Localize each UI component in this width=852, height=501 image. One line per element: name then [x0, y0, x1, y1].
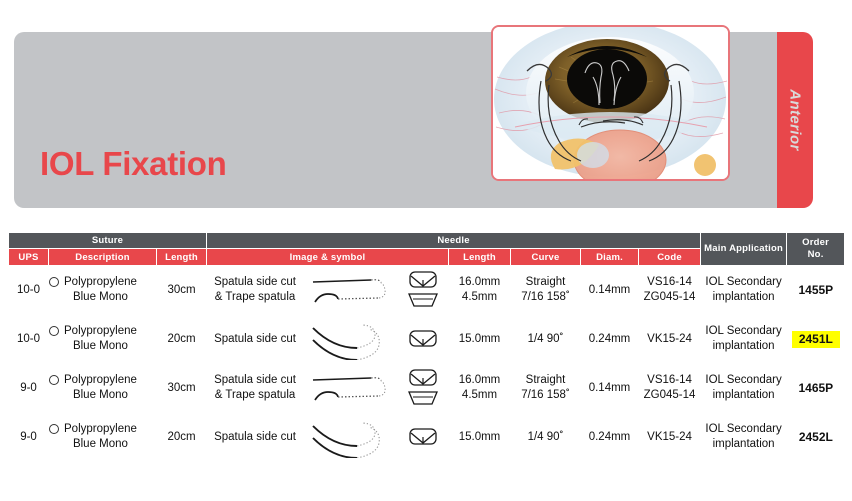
cell-suture-length: 30cm — [157, 266, 207, 315]
cell-suture-length: 20cm — [157, 315, 207, 364]
description-line1: Polypropylene — [64, 276, 137, 288]
code-line1: VS16-14 — [647, 374, 692, 386]
cell-code: VK15-24 — [639, 413, 701, 462]
cell-needle-length: 15.0mm — [449, 315, 511, 364]
cell-suture-length: 30cm — [157, 364, 207, 413]
application-line2: implantation — [713, 340, 775, 352]
table-row[interactable]: 9-0 Polypropylene Blue Mono 20cm Spatu — [9, 413, 845, 462]
cell-needle-symbol — [397, 315, 449, 364]
anterior-eye-illustration — [491, 25, 730, 181]
header-group-suture: Suture — [9, 233, 207, 249]
image-text-line1: Spatula side cut — [214, 276, 296, 288]
cell-code: VS16-14 ZG045-14 — [639, 266, 701, 315]
cell-needle-symbol — [397, 364, 449, 413]
symbol-side-cut-and-trape-spatula-icon — [406, 368, 440, 408]
eye-illustration-svg — [493, 27, 728, 179]
curve-line1: Straight — [526, 276, 566, 288]
header-main-application: Main Application — [701, 233, 787, 266]
cell-diameter: 0.14mm — [581, 266, 639, 315]
cell-needle-length: 16.0mm 4.5mm — [449, 364, 511, 413]
header-order-no-line1: Order — [787, 237, 844, 249]
description-line1: Polypropylene — [64, 374, 137, 386]
application-line1: IOL Secondary — [705, 374, 781, 386]
cell-main-application: IOL Secondary implantation — [701, 315, 787, 364]
header-image-symbol: Image & symbol — [207, 249, 449, 266]
needle-length-line2: 4.5mm — [462, 291, 497, 303]
symbol-side-cut-spatula-icon — [406, 328, 440, 350]
image-text-line1: Spatula side cut — [214, 374, 296, 386]
table-header-group-row: Suture Needle Main Application Order No. — [9, 233, 845, 249]
cell-code: VK15-24 — [639, 315, 701, 364]
description-line2: Blue Mono — [73, 389, 128, 401]
application-line2: implantation — [713, 291, 775, 303]
monofilament-circle-icon — [49, 424, 59, 434]
code-line2: ZG045-14 — [644, 291, 696, 303]
header-group-needle: Needle — [207, 233, 701, 249]
cell-ups: 10-0 — [9, 315, 49, 364]
cell-needle-symbol — [397, 266, 449, 315]
cell-curve: Straight 7/16 158˚ — [511, 364, 581, 413]
needle-illustration-double-curved — [309, 318, 396, 360]
cell-description: Polypropylene Blue Mono — [49, 364, 157, 413]
code-line2: ZG045-14 — [644, 389, 696, 401]
cell-diameter: 0.14mm — [581, 364, 639, 413]
anterior-section-tab[interactable]: Anterior — [777, 32, 813, 208]
monofilament-circle-icon — [49, 277, 59, 287]
table-body: 10-0 Polypropylene Blue Mono 30cm Spat — [9, 266, 845, 462]
table-row[interactable]: 10-0 Polypropylene Blue Mono 30cm Spat — [9, 266, 845, 315]
cell-main-application: IOL Secondary implantation — [701, 413, 787, 462]
curve-line2: 7/16 158˚ — [521, 389, 570, 401]
header-ups: UPS — [9, 249, 49, 266]
image-text-line2: & Trape spatula — [215, 291, 296, 303]
cell-order-no[interactable]: 1465P — [787, 364, 845, 413]
cell-curve: 1/4 90˚ — [511, 413, 581, 462]
cell-ups: 9-0 — [9, 413, 49, 462]
needle-illustration-double-curved — [309, 416, 396, 458]
cell-description: Polypropylene Blue Mono — [49, 413, 157, 462]
cell-suture-length: 20cm — [157, 413, 207, 462]
cell-order-no[interactable]: 2451L — [787, 315, 845, 364]
description-line1: Polypropylene — [64, 423, 137, 435]
cell-order-no[interactable]: 1455P — [787, 266, 845, 315]
anterior-section-tab-label: Anterior — [787, 89, 804, 151]
cell-image-text: Spatula side cut & Trape spatula — [207, 266, 397, 315]
code-line1: VS16-14 — [647, 276, 692, 288]
curve-line2: 7/16 158˚ — [521, 291, 570, 303]
application-line1: IOL Secondary — [705, 325, 781, 337]
order-no-value: 1465P — [798, 381, 833, 395]
symbol-side-cut-spatula-icon — [406, 426, 440, 448]
product-specification-table: Suture Needle Main Application Order No.… — [8, 232, 845, 462]
needle-illustration-straight-and-curved — [309, 269, 396, 311]
symbol-side-cut-and-trape-spatula-icon — [406, 270, 440, 310]
needle-art-svg — [309, 367, 393, 409]
cell-ups: 10-0 — [9, 266, 49, 315]
table-row[interactable]: 9-0 Polypropylene Blue Mono 30cm Spatu — [9, 364, 845, 413]
needle-art-svg — [309, 318, 393, 360]
header-suture-length: Length — [157, 249, 207, 266]
header-needle-length: Length — [449, 249, 511, 266]
cell-code: VS16-14 ZG045-14 — [639, 364, 701, 413]
header-order-no-line2: No. — [787, 249, 844, 261]
table-row[interactable]: 10-0 Polypropylene Blue Mono 20cm Spat — [9, 315, 845, 364]
description-line2: Blue Mono — [73, 291, 128, 303]
header-curve: Curve — [511, 249, 581, 266]
needle-illustration-straight-and-curved — [309, 367, 396, 409]
monofilament-circle-icon — [49, 375, 59, 385]
cell-ups: 9-0 — [9, 364, 49, 413]
application-line1: IOL Secondary — [705, 276, 781, 288]
cell-description: Polypropylene Blue Mono — [49, 266, 157, 315]
application-line2: implantation — [713, 438, 775, 450]
application-line1: IOL Secondary — [705, 423, 781, 435]
description-line2: Blue Mono — [73, 340, 128, 352]
cell-image-text: Spatula side cut & Trape spatula — [207, 364, 397, 413]
header-order-no: Order No. — [787, 233, 845, 266]
product-table-container: Suture Needle Main Application Order No.… — [8, 232, 844, 462]
description-line2: Blue Mono — [73, 438, 128, 450]
cell-diameter: 0.24mm — [581, 315, 639, 364]
cell-needle-length: 15.0mm — [449, 413, 511, 462]
order-no-value: 2452L — [799, 430, 833, 444]
needle-art-svg — [309, 269, 393, 311]
cell-main-application: IOL Secondary implantation — [701, 266, 787, 315]
description-line1: Polypropylene — [64, 325, 137, 337]
needle-art-svg — [309, 416, 393, 458]
curve-line1: Straight — [526, 374, 566, 386]
table-header: Suture Needle Main Application Order No.… — [9, 233, 845, 266]
header-description: Description — [49, 249, 157, 266]
cell-image-text: Spatula side cut — [207, 315, 397, 364]
cell-curve: 1/4 90˚ — [511, 315, 581, 364]
image-text-line1: Spatula side cut — [214, 333, 296, 345]
header-code: Code — [639, 249, 701, 266]
cell-needle-symbol — [397, 413, 449, 462]
needle-length-line1: 16.0mm — [459, 374, 501, 386]
monofilament-circle-icon — [49, 326, 59, 336]
application-line2: implantation — [713, 389, 775, 401]
image-text-line1: Spatula side cut — [214, 431, 296, 443]
needle-length-line1: 16.0mm — [459, 276, 501, 288]
header-diam: Diam. — [581, 249, 639, 266]
needle-length-line2: 4.5mm — [462, 389, 497, 401]
cell-order-no[interactable]: 2452L — [787, 413, 845, 462]
image-text-line2: & Trape spatula — [215, 389, 296, 401]
cell-image-text: Spatula side cut — [207, 413, 397, 462]
page-title: IOL Fixation — [40, 145, 226, 183]
order-no-value: 1455P — [798, 283, 833, 297]
cell-needle-length: 16.0mm 4.5mm — [449, 266, 511, 315]
order-no-value-highlighted: 2451L — [792, 331, 840, 348]
cell-curve: Straight 7/16 158˚ — [511, 266, 581, 315]
page-banner: Anterior IOL Fixation — [0, 0, 852, 225]
cell-main-application: IOL Secondary implantation — [701, 364, 787, 413]
cell-diameter: 0.24mm — [581, 413, 639, 462]
cell-description: Polypropylene Blue Mono — [49, 315, 157, 364]
